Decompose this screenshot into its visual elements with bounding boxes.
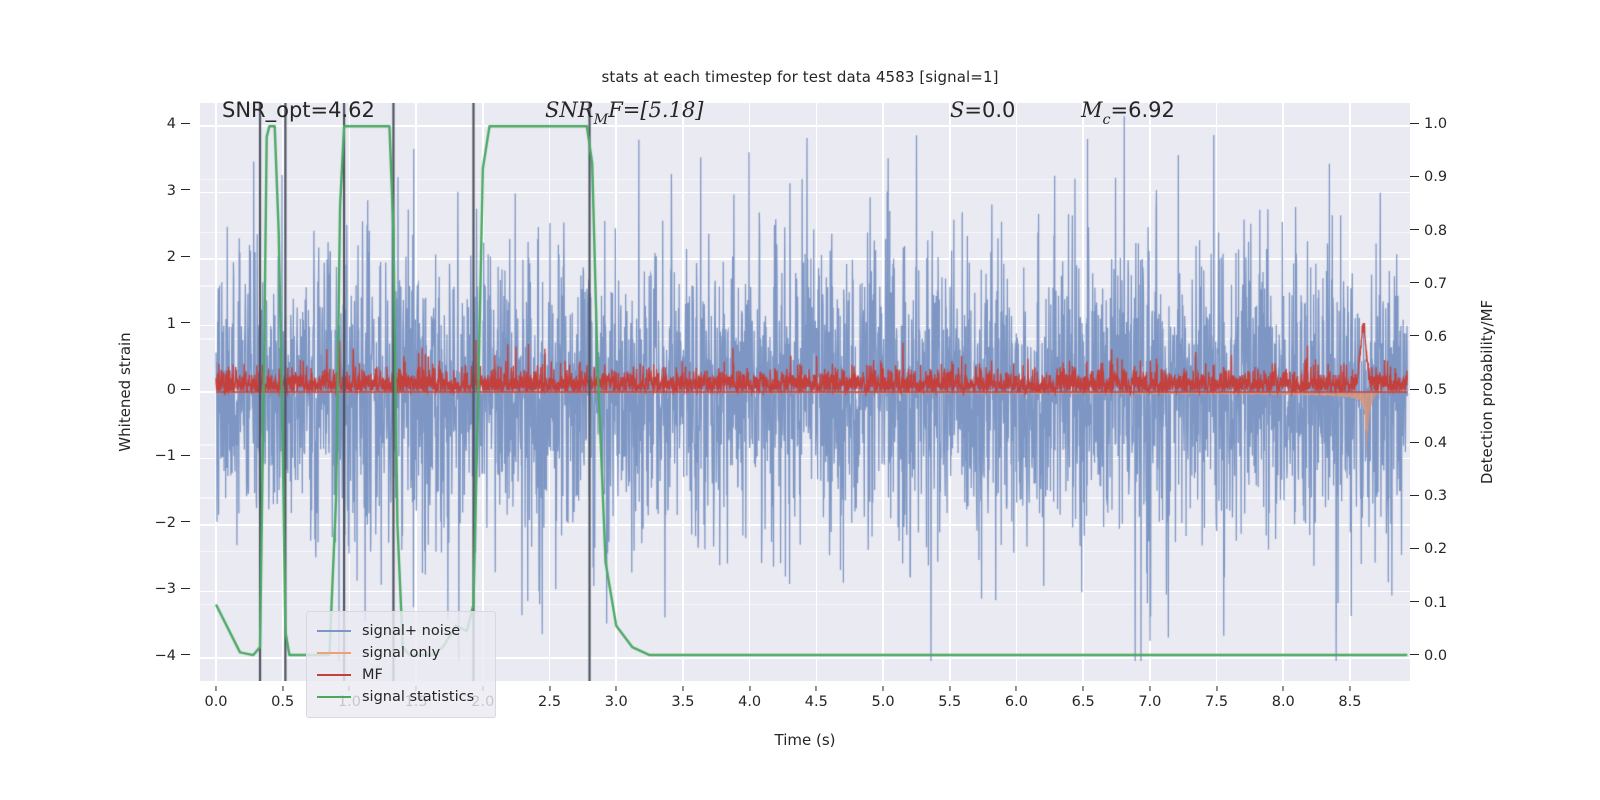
legend-swatch: [317, 674, 351, 676]
y-axis-label-left: Whitened strain: [116, 332, 134, 451]
annotation-s-symbol: S: [950, 98, 964, 122]
y-tick-label-right: 0.9: [1410, 169, 1447, 185]
x-tick-label: 7.5: [1205, 686, 1228, 710]
legend-label: signal+ noise: [362, 623, 460, 639]
legend-item[interactable]: signal only: [317, 642, 485, 664]
y-tick-label-left: 0: [167, 382, 190, 398]
y-tick-label-right: 0.0: [1410, 648, 1447, 664]
y-tick-label-left: −1: [155, 448, 190, 464]
y-tick-label-right: 0.5: [1410, 382, 1447, 398]
x-tick-label: 7.0: [1138, 686, 1161, 710]
series-canvas: [200, 103, 1410, 681]
legend[interactable]: signal+ noisesignal onlyMFsignal statist…: [306, 611, 496, 718]
plot-area[interactable]: [200, 103, 1410, 681]
x-tick-label: 0.5: [271, 686, 294, 710]
y-tick-label-right: 0.4: [1410, 435, 1447, 451]
legend-swatch: [317, 696, 351, 698]
x-tick-label: 6.0: [1005, 686, 1028, 710]
y-tick-label-right: 0.6: [1410, 329, 1447, 345]
legend-item[interactable]: signal+ noise: [317, 620, 485, 642]
y-tick-label-right: 0.2: [1410, 541, 1447, 557]
x-tick-label: 8.0: [1272, 686, 1295, 710]
figure-canvas: stats at each timestep for test data 458…: [0, 0, 1600, 800]
y-tick-label-left: 2: [167, 249, 190, 265]
y-tick-label-right: 0.3: [1410, 488, 1447, 504]
annotation-snr-mf-symbol: SNR: [545, 98, 594, 122]
y-tick-label-left: −3: [155, 581, 190, 597]
annotation-s: S=0.0: [950, 98, 1015, 122]
y-tick-label-left: 4: [167, 116, 190, 132]
x-tick-label: 0.0: [204, 686, 227, 710]
legend-swatch: [317, 652, 351, 654]
annotation-snr-mf: SNRMF=[5.18]: [545, 98, 704, 126]
legend-item[interactable]: signal statistics: [317, 686, 485, 708]
annotation-snr-opt: SNR_opt=4.62: [222, 98, 375, 122]
x-tick-label: 2.5: [538, 686, 561, 710]
legend-swatch: [317, 630, 351, 632]
x-tick-label: 5.5: [938, 686, 961, 710]
annotation-mc-symbol: M: [1081, 98, 1103, 122]
legend-label: signal statistics: [362, 689, 474, 705]
x-axis-label: Time (s): [775, 731, 836, 749]
annotation-s-value: =0.0: [964, 98, 1015, 122]
x-tick-label: 8.5: [1338, 686, 1361, 710]
y-axis-label-right: Detection probability/MF: [1478, 300, 1496, 484]
x-tick-label: 5.0: [872, 686, 895, 710]
y-tick-label-left: 3: [167, 183, 190, 199]
x-tick-label: 4.5: [805, 686, 828, 710]
x-tick-label: 3.5: [671, 686, 694, 710]
y-tick-label-right: 0.8: [1410, 223, 1447, 239]
legend-label: signal only: [362, 645, 440, 661]
y-tick-label-left: 1: [167, 316, 190, 332]
y-tick-label-left: −2: [155, 515, 190, 531]
y-tick-label-right: 0.1: [1410, 595, 1447, 611]
annotation-mc-value: =6.92: [1111, 98, 1175, 122]
x-tick-label: 6.5: [1072, 686, 1095, 710]
annotation-snr-mf-value: F=[5.18]: [608, 98, 703, 122]
legend-item[interactable]: MF: [317, 664, 485, 686]
page-title: stats at each timestep for test data 458…: [0, 68, 1600, 86]
y-tick-label-left: −4: [155, 648, 190, 664]
legend-label: MF: [362, 667, 383, 683]
x-tick-label: 3.0: [605, 686, 628, 710]
annotation-snr-mf-subscript: M: [594, 112, 609, 128]
y-tick-label-right: 0.7: [1410, 276, 1447, 292]
x-tick-label: 4.0: [738, 686, 761, 710]
annotation-mc: Mc=6.92: [1081, 98, 1175, 126]
annotation-mc-subscript: c: [1103, 112, 1111, 128]
y-tick-label-right: 1.0: [1410, 116, 1447, 132]
